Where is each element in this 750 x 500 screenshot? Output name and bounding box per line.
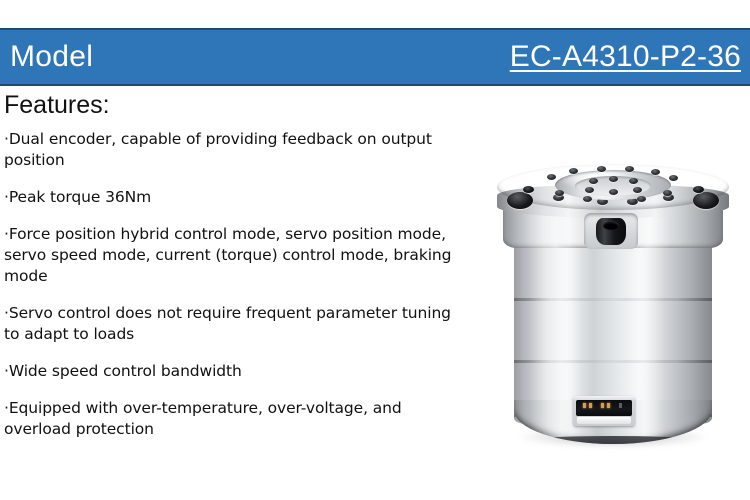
front-bolt-boss bbox=[593, 218, 629, 248]
feature-item: ·Equipped with over-temperature, over-vo… bbox=[4, 398, 466, 440]
connector-pin bbox=[619, 403, 622, 408]
top-gutter bbox=[0, 0, 750, 28]
hub-bolt-hole bbox=[569, 168, 578, 174]
hub-bolt-hole bbox=[663, 190, 672, 196]
feature-item: ·Servo control does not require frequent… bbox=[4, 303, 466, 345]
flange-corner-boss bbox=[507, 192, 533, 209]
hub-bolt-hole bbox=[637, 196, 646, 202]
product-spec-page: Model EC-A4310-P2-36 Features: ·Dual enc… bbox=[0, 0, 750, 500]
hub-bolt-hole bbox=[651, 169, 660, 175]
boss-bolt bbox=[596, 218, 626, 245]
bore-bolt-hole bbox=[609, 189, 618, 195]
body-groove bbox=[514, 298, 712, 301]
feature-item: ·Peak torque 36Nm bbox=[4, 187, 466, 208]
connector-port bbox=[573, 396, 635, 426]
body-sheen bbox=[514, 228, 712, 424]
feature-item: ·Force position hybrid control mode, ser… bbox=[4, 224, 466, 287]
hub-bolt-hole bbox=[555, 190, 564, 196]
model-label: Model bbox=[0, 42, 93, 72]
bore-bolt-hole bbox=[585, 187, 594, 193]
bore-bolt-hole bbox=[589, 178, 598, 184]
connector-pin bbox=[601, 403, 604, 408]
feature-item: ·Dual encoder, capable of providing feed… bbox=[4, 129, 466, 171]
bore-bolt-hole bbox=[609, 176, 618, 182]
hub-bolt-hole bbox=[597, 166, 606, 172]
connector-window bbox=[576, 400, 632, 416]
content-area: Features: ·Dual encoder, capable of prov… bbox=[0, 86, 750, 500]
hub-bolt-hole bbox=[547, 174, 556, 180]
model-banner: Model EC-A4310-P2-36 bbox=[0, 28, 750, 86]
flange-bolt-hole bbox=[523, 186, 534, 193]
connector-pin bbox=[607, 403, 610, 408]
hub-bolt-hole bbox=[625, 166, 634, 172]
model-number: EC-A4310-P2-36 bbox=[510, 42, 750, 72]
product-image bbox=[476, 86, 750, 500]
feature-item: ·Wide speed control bandwidth bbox=[4, 361, 466, 382]
bore-bolt-hole bbox=[629, 178, 638, 184]
hub-bolt-hole bbox=[669, 175, 678, 181]
connector-lip bbox=[577, 417, 631, 424]
features-heading: Features: bbox=[4, 90, 474, 120]
connector-pin bbox=[583, 403, 586, 408]
bore-bolt-hole bbox=[633, 187, 642, 193]
flange-bolt-hole bbox=[693, 186, 704, 193]
actuator-illustration bbox=[497, 142, 729, 442]
flange-corner-boss bbox=[693, 192, 719, 209]
hub-bolt-hole bbox=[583, 196, 592, 202]
features-section: Features: ·Dual encoder, capable of prov… bbox=[4, 90, 474, 440]
actuator-body bbox=[514, 228, 712, 424]
body-groove bbox=[514, 360, 712, 363]
connector-pin bbox=[589, 403, 592, 408]
